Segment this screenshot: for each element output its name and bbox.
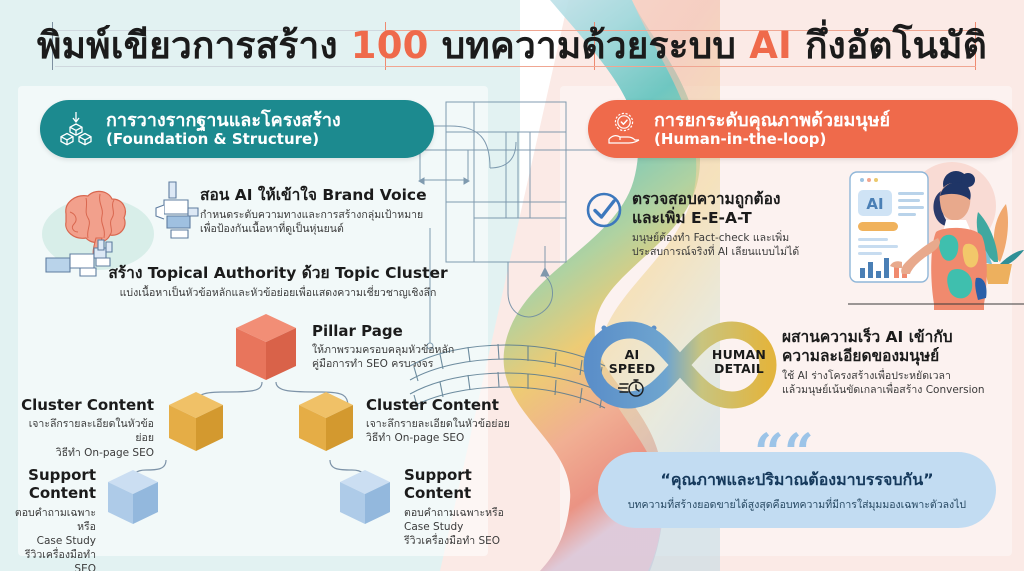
cluster-right-heading: Cluster Content	[366, 396, 516, 414]
left-item-brand-voice: สอน AI ให้เข้าใจ Brand Voice กำหนดระดับค…	[200, 186, 450, 236]
infinity-label-ai-speed-line2: SPEED	[598, 362, 666, 376]
title-part-2: บทความด้วยระบบ	[429, 24, 750, 67]
right-item-eeat: ตรวจสอบความถูกต้อง และเพิ่ม E-E-A-T มนุษ…	[632, 190, 852, 259]
cube-support-left	[102, 466, 164, 528]
page-title: พิมพ์เขียวการสร้าง 100 บทความด้วยระบบ AI…	[0, 14, 1024, 76]
support-right-sub: ตอบคำถามเฉพาะหรือ Case Study รีวิวเครื่อ…	[404, 506, 544, 549]
title-accent-ai: AI	[749, 24, 792, 67]
cluster-left-heading: Cluster Content	[14, 396, 154, 414]
pillar-page-sub: ให้ภาพรวมครอบคลุมหัวข้อหลัก คู่มือการทำ …	[312, 343, 472, 371]
support-right-sub-line2: Case Study	[404, 520, 544, 534]
title-part-1: พิมพ์เขียวการสร้าง	[37, 24, 351, 67]
right-item-speed-detail-sub: ใช้ AI ร่างโครงสร้างเพื่อประหยัดเวลา แล้…	[782, 369, 1022, 397]
cube-cluster-right	[292, 388, 360, 456]
cluster-left-text: Cluster Content เจาะลึกรายละเอียดในหัวข้…	[14, 396, 154, 460]
title-accent-100: 100	[351, 24, 429, 67]
section-badge-human-th: การยกระดับคุณภาพด้วยมนุษย์	[654, 111, 890, 131]
right-item-speed-detail-sub-line2: แล้วมนุษย์เน้นขัดเกลาเพื่อสร้าง Conversi…	[782, 383, 1022, 397]
infographic-canvas: พิมพ์เขียวการสร้าง 100 บทความด้วยระบบ AI…	[0, 0, 1024, 571]
section-badge-human-en: (Human-in-the-loop)	[654, 131, 890, 148]
cluster-right-sub-line2: วิธีทำ On-page SEO	[366, 431, 516, 445]
section-badge-foundation-en: (Foundation & Structure)	[106, 131, 341, 148]
right-item-eeat-sub-line1: มนุษย์ต้องทำ Fact-check และเพิ่ม	[632, 231, 852, 245]
left-item-topical-authority: สร้าง Topical Authority ด้วย Topic Clust…	[78, 264, 478, 300]
left-item-brand-voice-heading: สอน AI ให้เข้าใจ Brand Voice	[200, 186, 450, 205]
quote-card: “คุณภาพและปริมาณต้องมาบรรจบกัน” บทความที…	[598, 452, 996, 528]
right-item-eeat-sub-line2: ประสบการณ์จริงที่ AI เลียนแบบไม่ได้	[632, 245, 852, 259]
infinity-label-ai-speed: AI SPEED	[598, 348, 666, 375]
support-left-sub-line1: ตอบคำถามเฉพาะหรือ	[0, 506, 96, 534]
pillar-page-text: Pillar Page ให้ภาพรวมครอบคลุมหัวข้อหลัก …	[312, 322, 472, 372]
left-item-topical-authority-heading: สร้าง Topical Authority ด้วย Topic Clust…	[78, 264, 478, 283]
right-item-eeat-sub: มนุษย์ต้องทำ Fact-check และเพิ่ม ประสบกา…	[632, 231, 852, 259]
infinity-label-human-detail-line1: HUMAN	[700, 348, 778, 362]
pillar-page-sub-line1: ให้ภาพรวมครอบคลุมหัวข้อหลัก	[312, 343, 472, 357]
stopwatch-icon	[618, 378, 646, 398]
ai-dashboard-illustration: AI	[850, 172, 928, 282]
cluster-left-sub: เจาะลึกรายละเอียดในหัวข้อย่อย วิธีทำ On-…	[14, 417, 154, 460]
right-item-eeat-heading-line1: ตรวจสอบความถูกต้อง	[632, 190, 852, 209]
pillar-page-sub-line2: คู่มือการทำ SEO ครบวงจร	[312, 357, 472, 371]
support-left-sub-line3: รีวิวเครื่องมือทำ SEO	[0, 548, 96, 571]
infinity-label-ai-speed-line1: AI	[598, 348, 666, 362]
cluster-left-sub-line1: เจาะลึกรายละเอียดในหัวข้อย่อย	[14, 417, 154, 445]
cube-cluster-left	[162, 388, 230, 456]
left-item-brand-voice-sub-line1: กำหนดระดับความทางและการสร้างกลุ่มเป้าหมา…	[200, 208, 450, 222]
support-left-sub: ตอบคำถามเฉพาะหรือ Case Study รีวิวเครื่อ…	[0, 506, 96, 571]
right-item-speed-detail: ผสานความเร็ว AI เข้ากับ ความละเอียดของมน…	[782, 328, 1022, 397]
svg-text:AI: AI	[866, 195, 883, 213]
support-right-sub-line1: ตอบคำถามเฉพาะหรือ	[404, 506, 544, 520]
support-right-heading: Support Content	[404, 466, 544, 503]
cube-support-right	[334, 466, 396, 528]
cube-pillar-page	[228, 310, 304, 386]
left-item-brand-voice-sub: กำหนดระดับความทางและการสร้างกลุ่มเป้าหมา…	[200, 208, 450, 236]
pillar-page-heading: Pillar Page	[312, 322, 472, 340]
title-part-3: กึ่งอัตโนมัติ	[792, 24, 987, 67]
left-item-topical-authority-sub: แบ่งเนื้อหาเป็นหัวข้อหลักและหัวข้อย่อยเพ…	[78, 286, 478, 300]
support-right-sub-line3: รีวิวเครื่องมือทำ SEO	[404, 534, 544, 548]
section-badge-foundation[interactable]: การวางรากฐานและโครงสร้าง (Foundation & S…	[40, 100, 434, 158]
quote-sub-text: บทความที่สร้างยอดขายได้สูงสุดคือบทความที…	[628, 496, 966, 513]
section-badge-human[interactable]: การยกระดับคุณภาพด้วยมนุษย์ (Human-in-the…	[588, 100, 1018, 158]
right-item-speed-detail-heading-line1: ผสานความเร็ว AI เข้ากับ	[782, 328, 1022, 347]
infinity-label-human-detail-line2: DETAIL	[700, 362, 778, 376]
right-item-speed-detail-heading-line2: ความละเอียดของมนุษย์	[782, 347, 1022, 366]
support-right-text: Support Content ตอบคำถามเฉพาะหรือ Case S…	[404, 466, 544, 548]
cluster-right-sub: เจาะลึกรายละเอียดในหัวข้อย่อย วิธีทำ On-…	[366, 417, 516, 445]
support-left-sub-line2: Case Study	[0, 534, 96, 548]
cluster-right-text: Cluster Content เจาะลึกรายละเอียดในหัวข้…	[366, 396, 516, 446]
woman-at-screen-illustration: AI	[848, 158, 1024, 310]
check-circle-icon	[584, 190, 624, 230]
infinity-label-human-detail: HUMAN DETAIL	[700, 348, 778, 375]
support-left-heading: Support Content	[0, 466, 96, 503]
quote-main-text: “คุณภาพและปริมาณต้องมาบรรจบกัน”	[660, 468, 933, 493]
cluster-right-sub-line1: เจาะลึกรายละเอียดในหัวข้อย่อย	[366, 417, 516, 431]
cluster-left-sub-line2: วิธีทำ On-page SEO	[14, 446, 154, 460]
stacked-blocks-icon	[56, 109, 96, 149]
section-badge-foundation-th: การวางรากฐานและโครงสร้าง	[106, 111, 341, 131]
hand-quality-badge-icon	[604, 109, 644, 149]
right-item-eeat-heading-line2: และเพิ่ม E-E-A-T	[632, 209, 852, 228]
left-item-brand-voice-sub-line2: เพื่อป้องกันเนื้อหาที่ดูเป็นหุ่นยนต์	[200, 222, 450, 236]
support-left-text: Support Content ตอบคำถามเฉพาะหรือ Case S…	[0, 466, 96, 571]
right-item-speed-detail-sub-line1: ใช้ AI ร่างโครงสร้างเพื่อประหยัดเวลา	[782, 369, 1022, 383]
